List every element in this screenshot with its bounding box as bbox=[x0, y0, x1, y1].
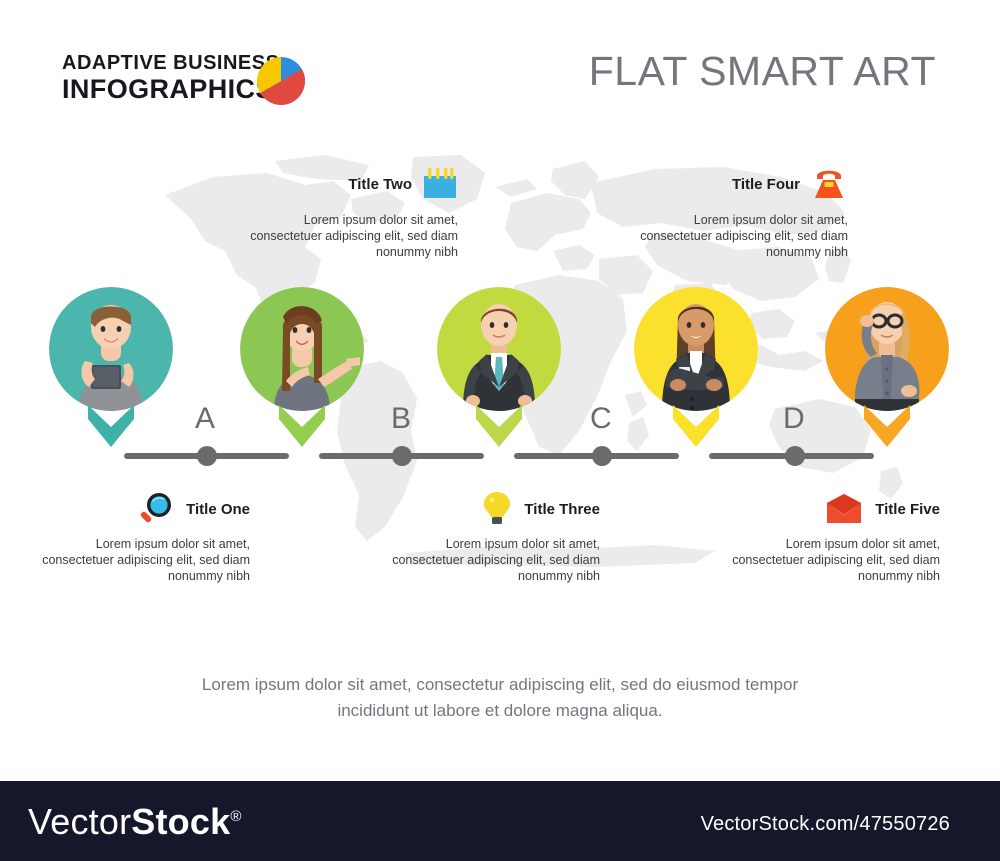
chevron-down-icon bbox=[673, 405, 719, 447]
logo-text-bold: Stock bbox=[131, 801, 230, 842]
avatar-circle bbox=[240, 287, 364, 411]
timeline-dot-a[interactable] bbox=[197, 446, 217, 466]
timeline-label-d: D bbox=[783, 402, 805, 436]
chevron-down-icon bbox=[279, 405, 325, 447]
footer-caption: Lorem ipsum dolor sit amet, consectetur … bbox=[120, 672, 880, 724]
avatar-1 bbox=[49, 287, 173, 411]
brand-line-one: ADAPTIVE BUSINESS bbox=[62, 52, 362, 74]
vectorstock-url: VectorStock.com/47550726 bbox=[701, 813, 950, 836]
info-block-header: Title One bbox=[32, 492, 250, 526]
info-block-title-two: Title Two Lorem ipsum dolor sit amet, co… bbox=[248, 168, 458, 260]
timeline-dot-d[interactable] bbox=[785, 446, 805, 466]
chevron-down-icon bbox=[864, 405, 910, 447]
info-block-title: Title Three bbox=[524, 501, 600, 518]
magnifier-icon bbox=[138, 492, 174, 526]
caption-line-one: Lorem ipsum dolor sit amet, consectetur … bbox=[202, 675, 798, 694]
info-block-body: Lorem ipsum dolor sit amet, consectetuer… bbox=[638, 212, 848, 260]
vectorstock-logo: VectorStock® bbox=[28, 801, 242, 843]
brand-wordmark: ADAPTIVE BUSINESS INFOGRAPHICS bbox=[62, 52, 362, 104]
registered-mark-icon: ® bbox=[230, 808, 241, 825]
lightbulb-icon bbox=[482, 491, 512, 527]
info-block-header: Title Three bbox=[382, 492, 600, 526]
avatar-circle bbox=[634, 287, 758, 411]
avatar-circle bbox=[825, 287, 949, 411]
timeline-dot-c[interactable] bbox=[592, 446, 612, 466]
pie-chart-icon bbox=[256, 56, 306, 106]
avatar-4 bbox=[634, 287, 758, 411]
avatar-2 bbox=[240, 287, 364, 411]
timeline-label-c: C bbox=[590, 402, 612, 436]
caption-line-two: incididunt ut labore et dolore magna ali… bbox=[337, 701, 662, 720]
info-block-title: Title Two bbox=[348, 176, 412, 193]
chevron-down-icon bbox=[88, 405, 134, 447]
chevron-down-icon bbox=[476, 405, 522, 447]
timeline-label-a: A bbox=[195, 402, 215, 436]
telephone-icon bbox=[810, 167, 848, 201]
info-block-title: Title Four bbox=[732, 176, 800, 193]
avatar-5 bbox=[825, 287, 949, 411]
info-block-body: Lorem ipsum dolor sit amet, consectetuer… bbox=[722, 536, 940, 584]
brand-line-two: INFOGRAPHICS bbox=[62, 75, 362, 104]
info-block-header: Title Two bbox=[248, 168, 458, 200]
infographic-canvas: ADAPTIVE BUSINESS INFOGRAPHICS FLAT SMAR… bbox=[0, 0, 1000, 861]
calendar-icon bbox=[422, 168, 458, 200]
watermark-bar: VectorStock® VectorStock.com/47550726 bbox=[0, 781, 1000, 861]
info-block-body: Lorem ipsum dolor sit amet, consectetuer… bbox=[248, 212, 458, 260]
avatar-circle bbox=[437, 287, 561, 411]
info-block-title-five: Title Five Lorem ipsum dolor sit amet, c… bbox=[722, 492, 940, 584]
avatar-circle bbox=[49, 287, 173, 411]
page-title: FLAT SMART ART bbox=[589, 48, 936, 95]
info-block-body: Lorem ipsum dolor sit amet, consectetuer… bbox=[382, 536, 600, 584]
info-block-title-three: Title Three Lorem ipsum dolor sit amet, … bbox=[382, 492, 600, 584]
logo-text-thin: Vector bbox=[28, 801, 131, 842]
info-block-title-four: Title Four Lorem ipsum dolor sit amet, c… bbox=[638, 168, 848, 260]
envelope-icon bbox=[825, 494, 863, 524]
avatar-3 bbox=[437, 287, 561, 411]
info-block-header: Title Five bbox=[722, 492, 940, 526]
info-block-title: Title Five bbox=[875, 501, 940, 518]
info-block-body: Lorem ipsum dolor sit amet, consectetuer… bbox=[32, 536, 250, 584]
timeline-label-b: B bbox=[391, 402, 411, 436]
info-block-title-one: Title One Lorem ipsum dolor sit amet, co… bbox=[32, 492, 250, 584]
timeline-dot-b[interactable] bbox=[392, 446, 412, 466]
info-block-title: Title One bbox=[186, 501, 250, 518]
info-block-header: Title Four bbox=[638, 168, 848, 200]
